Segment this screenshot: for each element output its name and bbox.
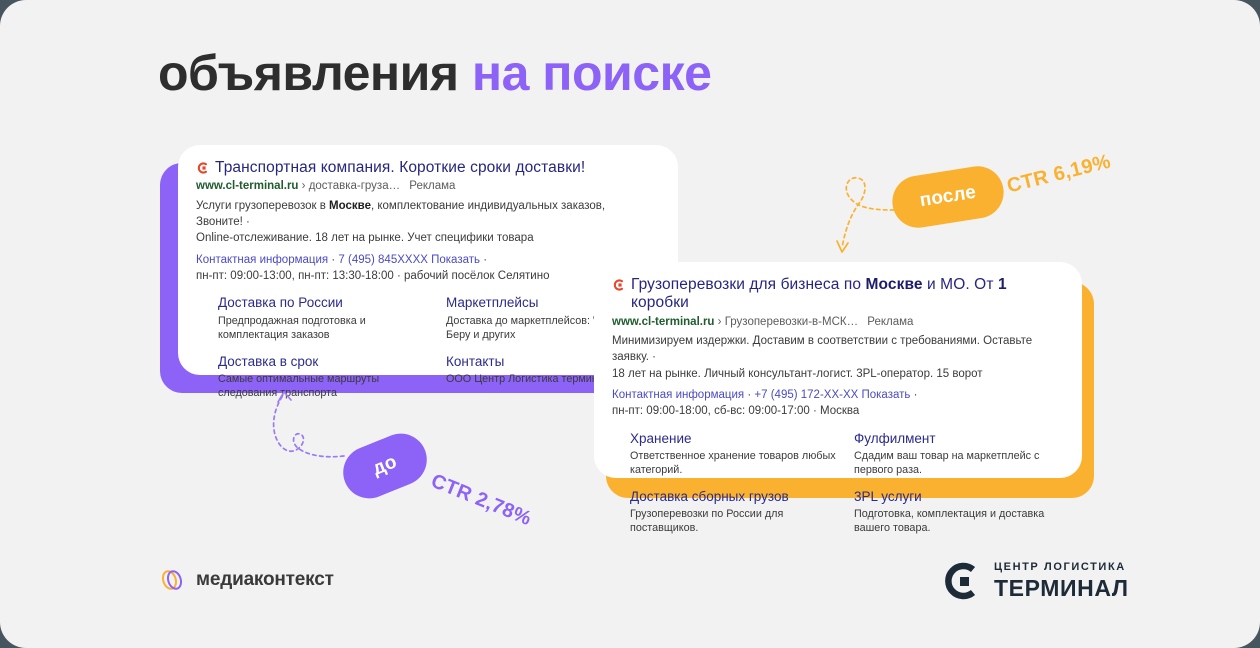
mediacontext-mark-icon: [158, 566, 186, 594]
ad-url-row-before[interactable]: www.cl-terminal.ru › доставка-груза… Рек…: [196, 179, 660, 195]
ad-headline-row: Грузоперевозки для бизнеса по Москве и М…: [612, 276, 1064, 313]
cl-terminal-line1: ЦЕНТР ЛОГИСТИКА: [994, 562, 1129, 573]
contact-city: Москва: [820, 405, 859, 417]
ad-title-bold1: Москве: [866, 276, 923, 293]
cl-terminal-logo: ЦЕНТР ЛОГИСТИКА ТЕРМИНАЛ: [940, 560, 1129, 602]
ad-desc-part1: Услуги грузоперевозок в: [196, 200, 329, 212]
cl-terminal-favicon-icon: [196, 162, 208, 176]
sitelink-title[interactable]: 3PL услуги: [854, 489, 1064, 505]
ad-domain: www.cl-terminal.ru: [612, 316, 714, 328]
contact-label: Контактная информация: [612, 389, 744, 401]
ad-block: Транспортная компания. Короткие сроки до…: [196, 159, 660, 401]
sitelink-title[interactable]: Хранение: [630, 431, 840, 447]
mediacontext-logo: медиаконтекст: [158, 566, 334, 594]
ad-headline-row: Транспортная компания. Короткие сроки до…: [196, 159, 660, 177]
sitelink-title[interactable]: Фулфилмент: [854, 431, 1064, 447]
sitelinks-grid-before: Доставка по России Предпродажная подгото…: [196, 295, 660, 400]
page-title-plain: объявления: [158, 45, 472, 101]
contact-sep-2: ·: [483, 254, 487, 266]
ad-description-before: Услуги грузоперевозок в Москве, комплект…: [196, 198, 648, 247]
sitelink-item[interactable]: 3PL услуги Подготовка, комплектация и до…: [854, 489, 1064, 536]
badge-after-label: после: [918, 182, 978, 213]
ad-title-bold2: 1: [998, 276, 1007, 293]
mediacontext-wordmark: медиаконтекст: [196, 569, 334, 591]
ctr-before: CTR 2,78%: [428, 470, 535, 531]
sitelink-title[interactable]: Доставка сборных грузов: [630, 489, 840, 505]
ad-panel-after: Грузоперевозки для бизнеса по Москве и М…: [594, 262, 1082, 478]
sitelink-item[interactable]: Хранение Ответственное хранение товаров …: [630, 431, 840, 478]
ad-contact-after[interactable]: Контактная информация · +7 (495) 172-XX-…: [612, 387, 1064, 420]
sitelink-title[interactable]: Доставка по России: [218, 295, 432, 311]
contact-phone[interactable]: +7 (495) 172-XX-XX Показать: [754, 389, 910, 401]
contact-hours: пн-пт: 09:00-18:00, сб-вс: 09:00-17:00: [612, 405, 810, 417]
contact-label: Контактная информация: [196, 254, 328, 266]
ad-description-after: Минимизируем издержки. Доставим в соотве…: [612, 333, 1064, 382]
ad-path: › Грузоперевозки-в-МСК…: [718, 316, 858, 328]
ad-title-after[interactable]: Грузоперевозки для бизнеса по Москве и М…: [631, 276, 1064, 313]
before-arrow-icon: [266, 388, 356, 472]
ad-desc-line1: Минимизируем издержки. Доставим в соотве…: [612, 335, 1032, 363]
cl-terminal-wordmark: ЦЕНТР ЛОГИСТИКА ТЕРМИНАЛ: [994, 562, 1129, 600]
contact-sep-2: ·: [914, 389, 918, 401]
page-title-accent: на поиске: [472, 45, 712, 101]
slide-canvas: объявления на поиске Транспортная компан…: [0, 0, 1260, 648]
contact-hours: пн-пт: 09:00-13:00, пн-пт: 13:30-18:00: [196, 270, 394, 282]
ad-desc-bold: Москве: [329, 200, 371, 212]
ad-desc-line2: Online-отслеживание. 18 лет на рынке. Уч…: [196, 232, 534, 244]
ad-title-part2: и МО. От: [923, 276, 998, 293]
cl-terminal-favicon-icon: [612, 279, 624, 293]
sitelink-item[interactable]: Доставка по России Предпродажная подгото…: [218, 295, 432, 342]
contact-city: рабочий посёлок Селятино: [404, 270, 549, 282]
sitelink-item[interactable]: Доставка сборных грузов Грузоперевозки п…: [630, 489, 840, 536]
sitelink-desc: Подготовка, комплектация и доставка ваше…: [854, 507, 1064, 536]
ad-promo-label: Реклама: [867, 316, 913, 328]
cl-terminal-line2: ТЕРМИНАЛ: [994, 577, 1129, 600]
page-title: объявления на поиске: [158, 44, 711, 102]
ad-card-after: Грузоперевозки для бизнеса по Москве и М…: [594, 262, 1094, 498]
sitelink-desc: Сдадим ваш товар на маркетплейс с первог…: [854, 449, 1064, 478]
ad-title-part1: Грузоперевозки для бизнеса по: [631, 276, 866, 293]
sitelink-desc: Предпродажная подготовка и комплектация …: [218, 314, 432, 343]
ad-promo-label: Реклама: [409, 180, 455, 192]
contact-phone[interactable]: 7 (495) 845XXXX Показать: [338, 254, 480, 266]
contact-sep-1: ·: [747, 389, 751, 401]
ad-url-row-after[interactable]: www.cl-terminal.ru › Грузоперевозки-в-МС…: [612, 315, 1064, 331]
contact-sep-3: ·: [397, 270, 401, 282]
ad-title-before[interactable]: Транспортная компания. Короткие сроки до…: [215, 159, 585, 177]
ad-title-part3: коробки: [631, 294, 689, 311]
cl-terminal-mark-icon: [940, 560, 982, 602]
sitelink-desc: Грузоперевозки по России для поставщиков…: [630, 507, 840, 536]
ad-block: Грузоперевозки для бизнеса по Москве и М…: [612, 276, 1064, 536]
ad-path: › доставка-груза…: [302, 180, 400, 192]
sitelink-item[interactable]: Фулфилмент Сдадим ваш товар на маркетпле…: [854, 431, 1064, 478]
contact-sep-1: ·: [331, 254, 335, 266]
sitelinks-grid-after: Хранение Ответственное хранение товаров …: [612, 431, 1064, 536]
contact-sep-3: ·: [813, 405, 817, 417]
badge-before-label: до: [370, 451, 401, 480]
sitelink-desc: Ответственное хранение товаров любых кат…: [630, 449, 840, 478]
sitelink-title[interactable]: Доставка в срок: [218, 354, 432, 370]
ctr-after: CTR 6,19%: [1005, 151, 1113, 199]
ad-domain: www.cl-terminal.ru: [196, 180, 298, 192]
ad-desc-line2: 18 лет на рынке. Личный консультант-логи…: [612, 368, 983, 380]
ad-contact-before[interactable]: Контактная информация · 7 (495) 845XXXX …: [196, 252, 660, 285]
